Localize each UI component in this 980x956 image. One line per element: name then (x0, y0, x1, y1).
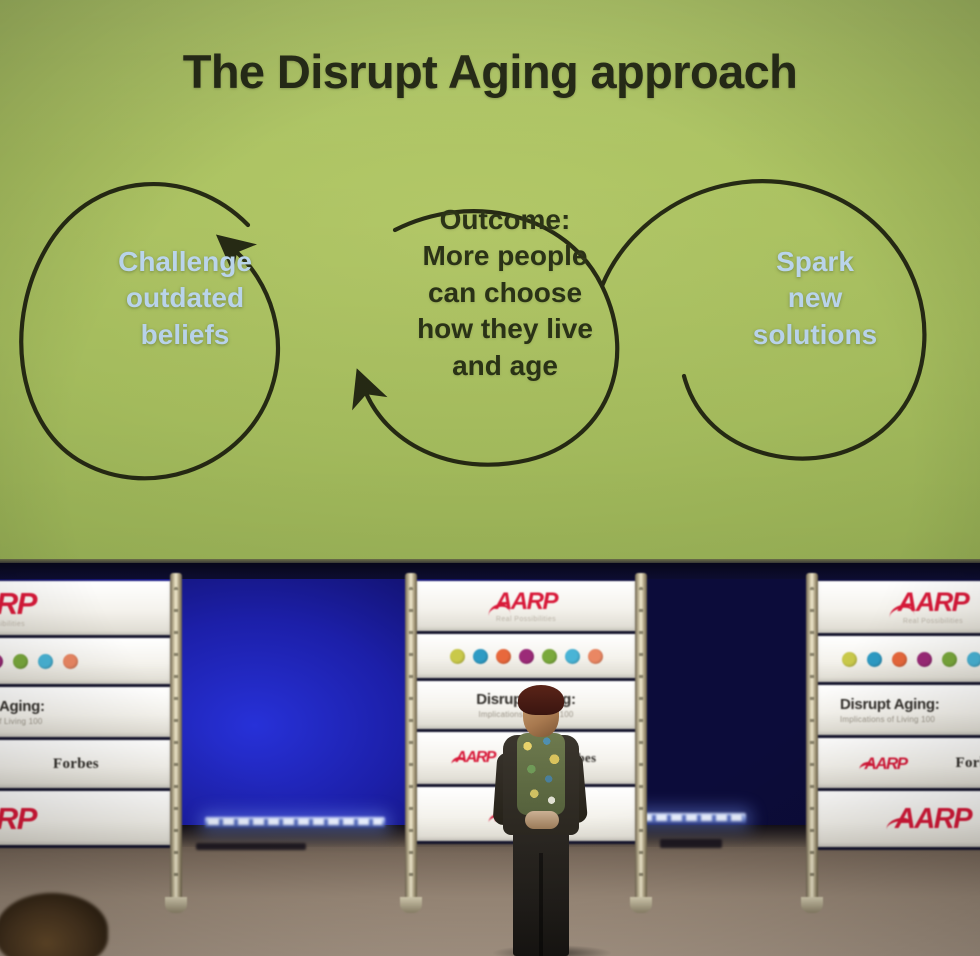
banner-panel-cobrand: AARP Forbes (0, 740, 170, 791)
banner-panel-dots (0, 638, 170, 687)
color-dot (13, 654, 28, 669)
color-dot (588, 649, 603, 664)
banner-caster-wheel (630, 897, 652, 913)
stage-area: AARP Real Possibilities (0, 563, 980, 956)
banner-frame-post (170, 573, 182, 903)
banner-caster-wheel (165, 897, 187, 913)
forbes-logo: Forbes (53, 756, 99, 773)
banner-subheadline: Implications of Living 100 (840, 715, 939, 724)
color-dot (496, 649, 511, 664)
node-line: Challenge (55, 244, 315, 280)
speaker-floral-top (517, 733, 565, 815)
node-label-outcome: Outcome: More people can choose how they… (372, 202, 638, 384)
color-dot (565, 649, 580, 664)
banner-panel-logo: AARP (818, 791, 980, 850)
speaker-presenter (489, 683, 593, 956)
node-line: how they live (372, 311, 638, 347)
banner-caster-wheel (400, 897, 422, 913)
color-dot (942, 652, 957, 667)
projected-slide: The Disrupt Aging approach (0, 0, 980, 563)
banner-panel-logo: AARP Real Possibilities (818, 581, 980, 636)
banner-panel-headline: Disrupt Aging: Implications of Living 10… (818, 685, 980, 738)
color-dot (867, 652, 882, 667)
banner-frame-post (806, 573, 818, 903)
node-label-spark-new-solutions: Spark new solutions (700, 244, 930, 353)
banner-panel-cobrand: AARP Forbes (818, 738, 980, 791)
color-dot (967, 652, 980, 667)
slide-title: The Disrupt Aging approach (0, 44, 980, 99)
speaker-hands (525, 811, 559, 829)
banner-subheadline: Implications of Living 100 (0, 717, 45, 726)
forbes-logo: Forbes (956, 755, 980, 772)
node-line: beliefs (55, 317, 315, 353)
banner-frame-post (405, 573, 417, 903)
color-dot (542, 649, 557, 664)
node-line: Outcome: (372, 202, 638, 238)
banner-frame-post (635, 573, 647, 903)
stage-light-bar (205, 817, 385, 828)
aarp-tagline: Real Possibilities (0, 621, 36, 628)
banner-panel-logo: AARP (0, 791, 170, 848)
aarp-logo: AARP (864, 755, 906, 772)
speaker-legs (513, 823, 569, 956)
banner-panel-dots (818, 636, 980, 685)
aarp-tagline: Real Possibilities (898, 618, 969, 625)
node-line: outdated (55, 280, 315, 316)
color-dots-row (842, 652, 980, 667)
presentation-photo: The Disrupt Aging approach (0, 0, 980, 956)
color-dot (0, 654, 3, 669)
color-dot (63, 654, 78, 669)
aarp-logo: AARP Real Possibilities (898, 589, 969, 625)
node-line: and age (372, 348, 638, 384)
color-dot (38, 654, 53, 669)
banner-caster-wheel (801, 897, 823, 913)
stage-light-bar (638, 813, 746, 824)
banner-panel-logo: AARP Real Possibilities (0, 581, 170, 638)
color-dot (519, 649, 534, 664)
floor-prop (196, 843, 306, 850)
node-line: Spark (700, 244, 930, 280)
color-dot (842, 652, 857, 667)
speaker-hair (518, 685, 564, 715)
banner-headline: Disrupt Aging: (840, 696, 939, 713)
node-line: new (700, 280, 930, 316)
aarp-wordmark: AARP (0, 586, 36, 621)
aarp-wordmark: AARP (0, 801, 36, 836)
color-dots-row (0, 654, 78, 669)
aarp-tagline: Real Possibilities (495, 616, 557, 623)
node-line: More people (372, 238, 638, 274)
floor-prop (660, 839, 722, 848)
aarp-logo: AARP (0, 803, 36, 834)
color-dot (892, 652, 907, 667)
node-line: can choose (372, 275, 638, 311)
banner-headline: Disrupt Aging: (0, 698, 45, 715)
color-dot (450, 649, 465, 664)
banner-panel-logo: AARP Real Possibilities (417, 581, 635, 634)
node-line: solutions (700, 317, 930, 353)
banner-panel-dots (417, 634, 635, 681)
aarp-logo: AARP Real Possibilities (495, 590, 557, 623)
color-dots-row (450, 649, 603, 664)
color-dot (473, 649, 488, 664)
aarp-logo: AARP (895, 805, 971, 834)
backdrop-top-trim (0, 563, 980, 579)
color-dot (917, 652, 932, 667)
node-label-challenge-outdated-beliefs: Challenge outdated beliefs (55, 244, 315, 353)
banner-panel-headline: Disrupt Aging: Implications of Living 10… (0, 687, 170, 740)
aarp-logo: AARP Real Possibilities (0, 588, 36, 628)
